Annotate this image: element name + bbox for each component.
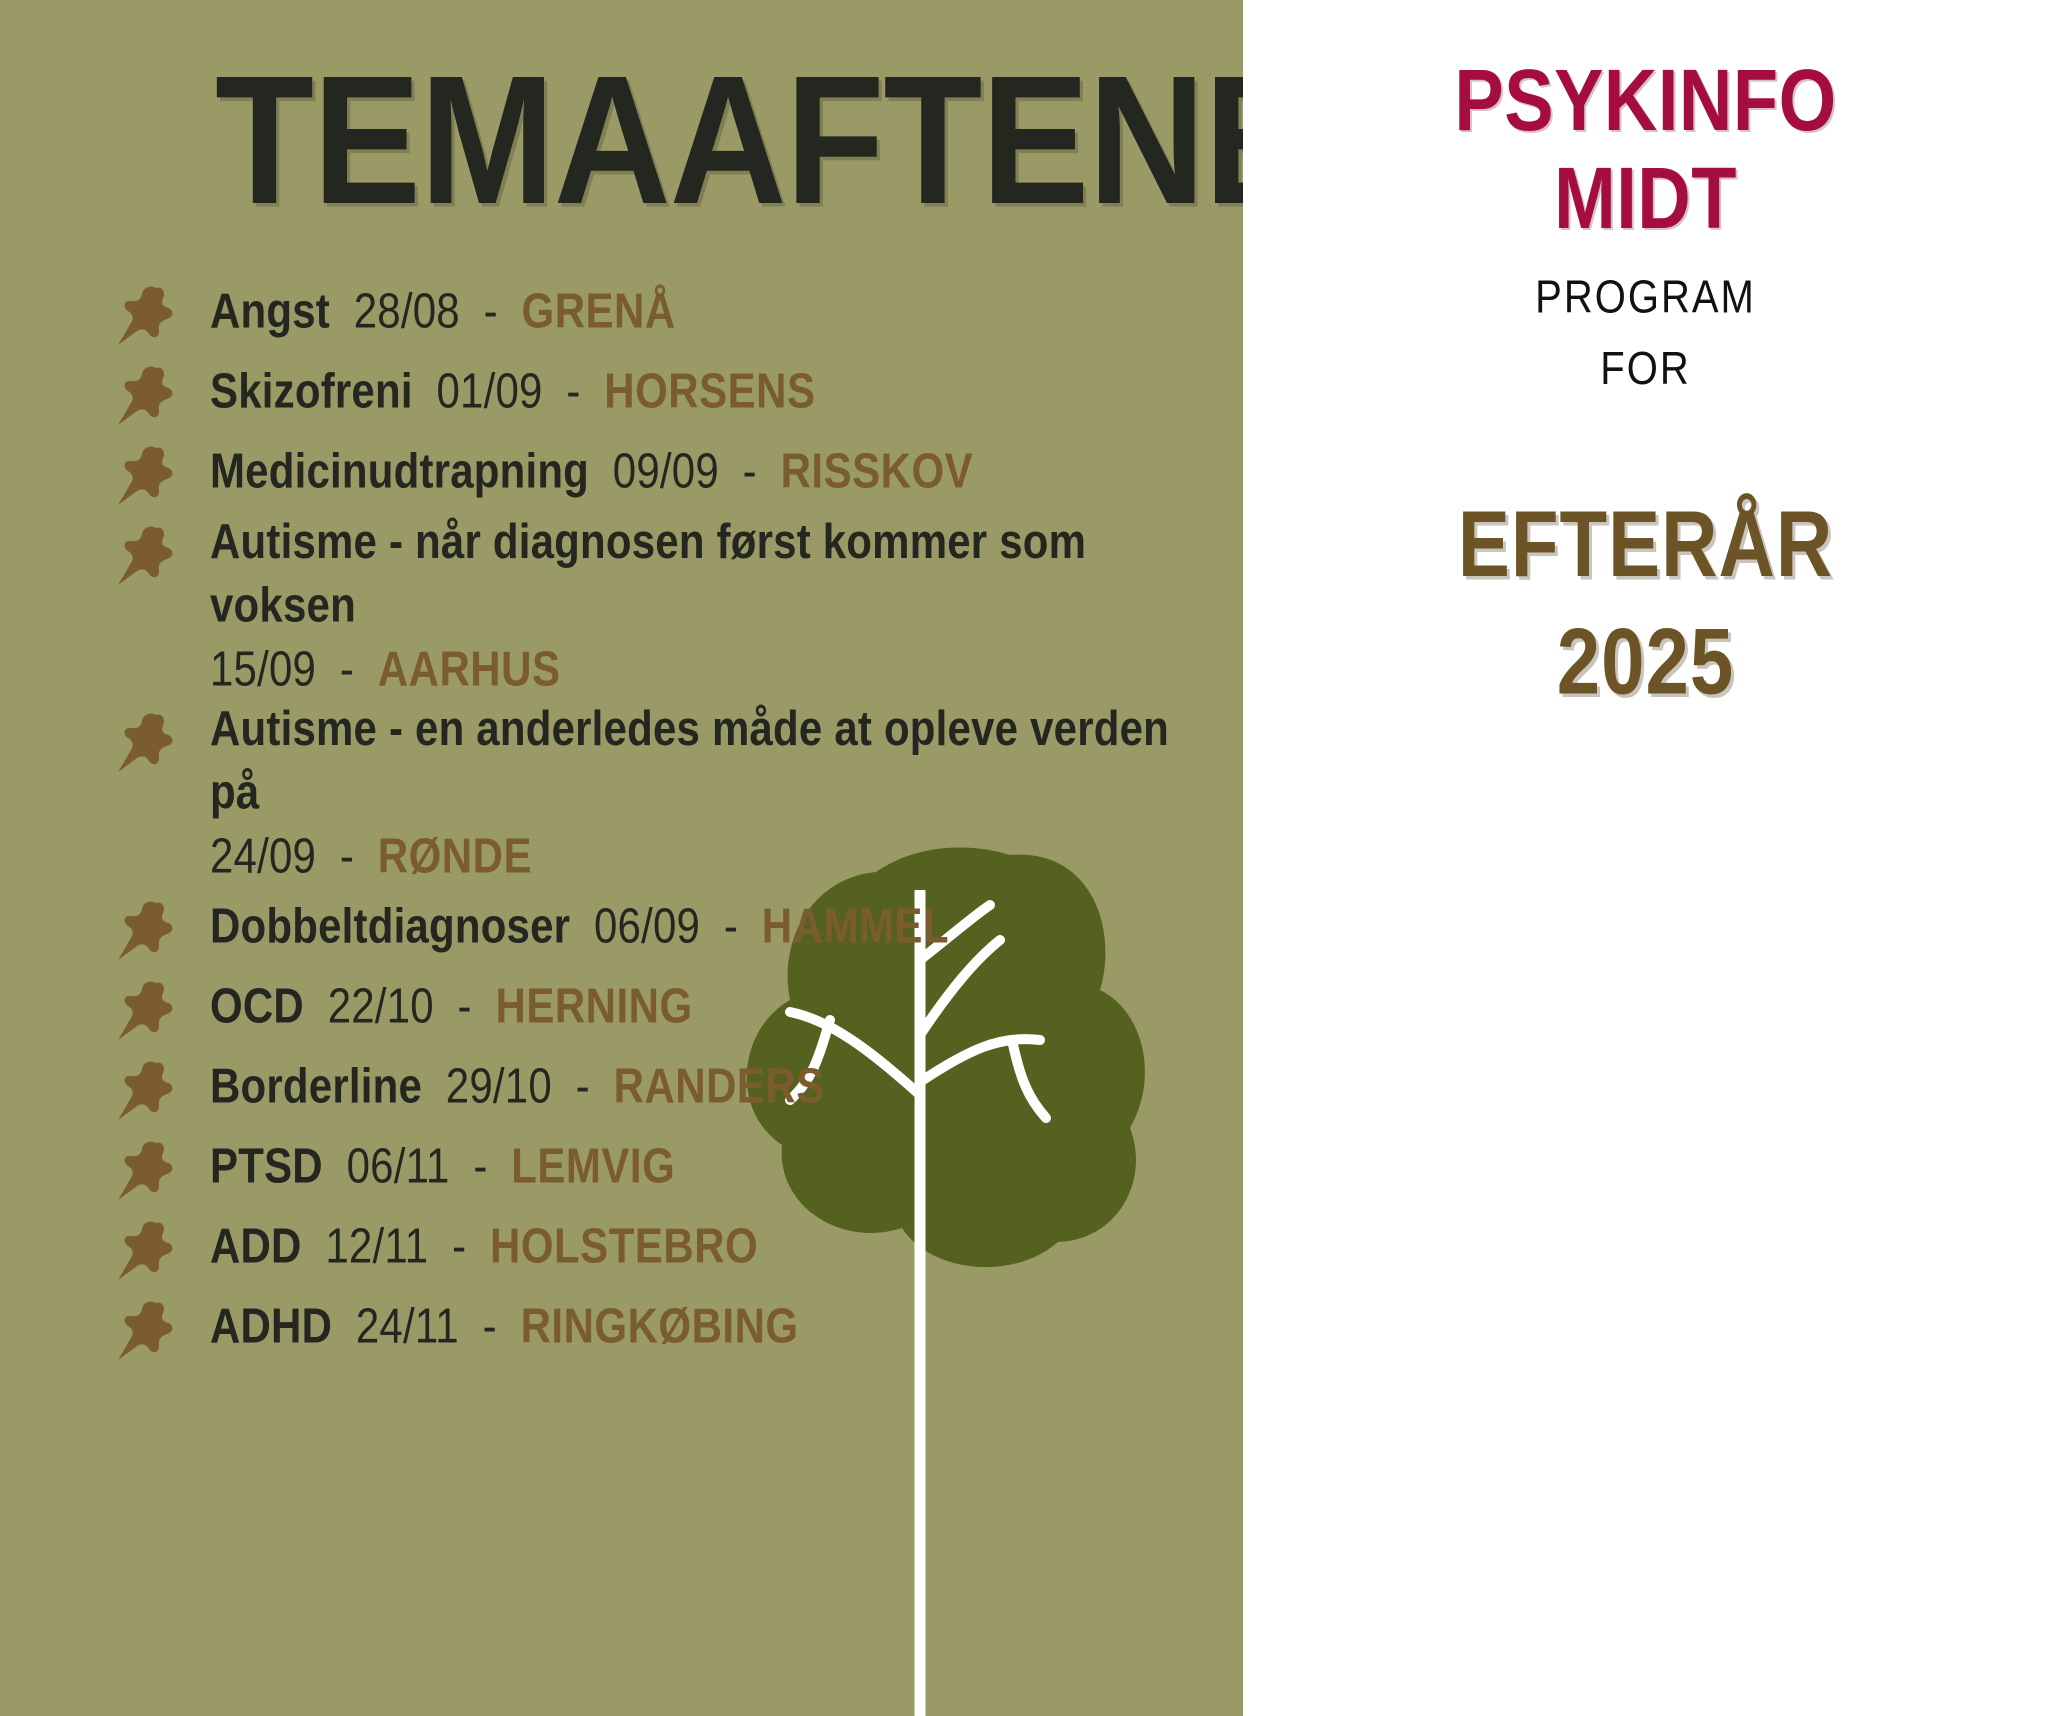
right-white-panel: PSYKINFO MIDT PROGRAM FOR EFTERÅR 2025 <box>1243 0 2048 1716</box>
pushpin-icon <box>112 715 210 769</box>
event-topic: ADD <box>210 1217 302 1272</box>
list-item-text: Medicinudtrapning 09/09 - RISSKOV <box>210 439 1222 502</box>
event-date: 12/11 <box>325 1217 428 1272</box>
event-date: 22/10 <box>328 977 434 1032</box>
pushpin-icon <box>112 288 210 342</box>
pushpin-icon <box>112 1223 210 1277</box>
program-line-2: FOR <box>1243 333 2048 404</box>
event-dash: - <box>340 640 354 695</box>
event-date: 24/09 <box>210 827 316 882</box>
pushpin-icon <box>112 1143 210 1197</box>
event-dash: - <box>724 897 738 952</box>
event-dash: - <box>340 827 354 882</box>
event-topic: OCD <box>210 977 304 1032</box>
event-topic: Medicinudtrapning <box>210 443 589 498</box>
event-date: 01/09 <box>436 363 542 418</box>
event-dash: - <box>452 1217 466 1272</box>
event-city: HERNING <box>495 977 692 1032</box>
event-date: 24/11 <box>356 1297 459 1352</box>
brand-line-1: PSYKINFO <box>1454 51 1836 149</box>
event-city: RINGKØBING <box>521 1297 799 1352</box>
list-item-text: Borderline 29/10 - RANDERS <box>210 1054 1222 1117</box>
season-line-1: EFTERÅR <box>1458 491 1833 597</box>
event-dash: - <box>458 977 472 1032</box>
list-item[interactable]: Dobbeltdiagnoser 06/09 - HAMMEL <box>112 899 1222 957</box>
event-date: 29/10 <box>446 1057 552 1112</box>
event-city: AARHUS <box>378 640 561 695</box>
pushpin-icon <box>112 448 210 502</box>
list-item-text: ADHD 24/11 - RINGKØBING <box>210 1294 1222 1357</box>
event-city: RANDERS <box>614 1057 825 1112</box>
pushpin-icon <box>112 528 210 582</box>
list-item-text: Skizofreni 01/09 - HORSENS <box>210 359 1222 422</box>
event-dash: - <box>576 1057 590 1112</box>
list-item[interactable]: Medicinudtrapning 09/09 - RISSKOV <box>112 444 1222 502</box>
event-topic: Borderline <box>210 1057 422 1112</box>
event-city: HAMMEL <box>762 897 949 952</box>
event-topic: PTSD <box>210 1137 323 1192</box>
pushpin-icon <box>112 368 210 422</box>
event-city: HORSENS <box>604 363 815 418</box>
list-item[interactable]: PTSD 06/11 - LEMVIG <box>112 1139 1222 1197</box>
event-topic: ADHD <box>210 1297 332 1352</box>
event-topic: Angst <box>210 283 330 338</box>
event-dash: - <box>566 363 580 418</box>
event-city: GRENÅ <box>522 283 676 338</box>
event-topic: Dobbeltdiagnoser <box>210 897 570 952</box>
event-dash: - <box>743 443 757 498</box>
event-date: 15/09 <box>210 640 316 695</box>
event-city: HOLSTEBRO <box>490 1217 758 1272</box>
list-item-text: Dobbeltdiagnoser 06/09 - HAMMEL <box>210 894 1222 957</box>
list-item[interactable]: Autisme - når diagnosen først kommer som… <box>112 524 1222 685</box>
list-item-text: OCD 22/10 - HERNING <box>210 974 1222 1037</box>
poster-root: TEMAAFTENER Angst 28/08 - GRENÅ Skizofre… <box>0 0 2048 1716</box>
event-topic: Skizofreni <box>210 363 413 418</box>
list-item-text: Autisme - når diagnosen først kommer som… <box>210 509 1222 699</box>
pushpin-icon <box>112 983 210 1037</box>
event-city: LEMVIG <box>511 1137 675 1192</box>
brand-title: PSYKINFO MIDT <box>1243 52 2048 248</box>
event-dash: - <box>484 283 498 338</box>
event-dash: - <box>473 1137 487 1192</box>
list-item[interactable]: ADHD 24/11 - RINGKØBING <box>112 1299 1222 1357</box>
pushpin-icon <box>112 1063 210 1117</box>
event-date: 09/09 <box>613 443 719 498</box>
program-subtitle: PROGRAM FOR <box>1243 262 2048 405</box>
season-line-2: 2025 <box>1243 603 2048 720</box>
event-list: Angst 28/08 - GRENÅ Skizofreni 01/09 - H… <box>112 284 1222 1379</box>
list-item-text: PTSD 06/11 - LEMVIG <box>210 1134 1222 1197</box>
list-item[interactable]: OCD 22/10 - HERNING <box>112 979 1222 1037</box>
list-item[interactable]: Borderline 29/10 - RANDERS <box>112 1059 1222 1117</box>
list-item[interactable]: Autisme - en anderledes måde at opleve v… <box>112 711 1222 872</box>
event-city: RISSKOV <box>781 443 974 498</box>
event-dash: - <box>483 1297 497 1352</box>
list-item-text: ADD 12/11 - HOLSTEBRO <box>210 1214 1222 1277</box>
list-item-text: Angst 28/08 - GRENÅ <box>210 279 1222 342</box>
list-item[interactable]: ADD 12/11 - HOLSTEBRO <box>112 1219 1222 1277</box>
event-date: 28/08 <box>354 283 460 338</box>
event-city: RØNDE <box>378 827 532 882</box>
brand-line-2: MIDT <box>1243 150 2048 248</box>
event-topic: Autisme - når diagnosen først kommer som… <box>210 513 1086 632</box>
event-date: 06/09 <box>594 897 700 952</box>
list-item-text: Autisme - en anderledes måde at opleve v… <box>210 697 1222 887</box>
pushpin-icon <box>112 1303 210 1357</box>
season-label: EFTERÅR 2025 <box>1243 486 2048 720</box>
event-topic: Autisme - en anderledes måde at opleve v… <box>210 700 1169 819</box>
program-line-1: PROGRAM <box>1535 272 1756 323</box>
list-item[interactable]: Angst 28/08 - GRENÅ <box>112 284 1222 342</box>
list-item[interactable]: Skizofreni 01/09 - HORSENS <box>112 364 1222 422</box>
event-date: 06/11 <box>347 1137 450 1192</box>
pushpin-icon <box>112 903 210 957</box>
